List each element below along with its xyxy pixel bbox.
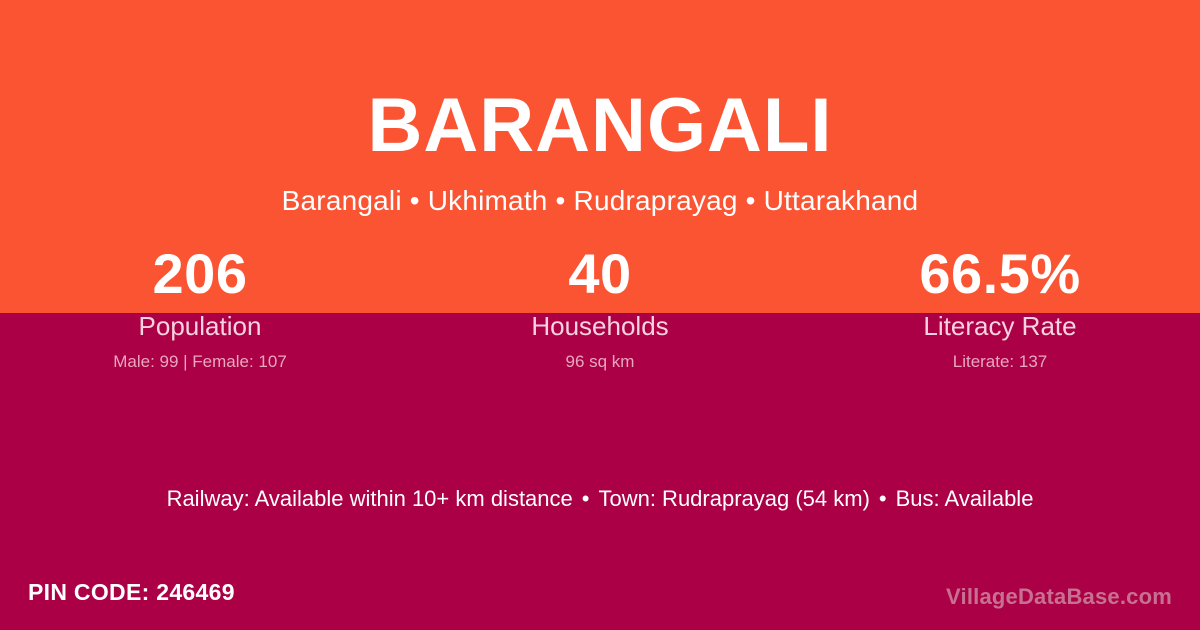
pin-code: PIN CODE: 246469: [28, 576, 235, 608]
stat-population: 206 Population Male: 99 | Female: 107: [0, 243, 400, 374]
page-title: BARANGALI: [0, 88, 1200, 164]
stat-households: 40 Households 96 sq km: [400, 243, 800, 374]
stat-population-label: Population: [0, 305, 400, 343]
stat-population-sub: Male: 99 | Female: 107: [0, 343, 400, 374]
stat-population-value: 206: [0, 243, 400, 305]
stat-literacy-rate-sub: Literate: 137: [800, 343, 1200, 374]
infrastructure-separator-2: •: [870, 486, 896, 511]
stat-households-label: Households: [400, 305, 800, 343]
infrastructure-summary: Railway: Available within 10+ km distanc…: [0, 483, 1200, 515]
stat-literacy-rate: 66.5% Literacy Rate Literate: 137: [800, 243, 1200, 374]
village-info-card: BARANGALI Barangali • Ukhimath • Rudrapr…: [0, 0, 1200, 630]
stat-literacy-rate-value: 66.5%: [800, 243, 1200, 305]
card-footer: PIN CODE: 246469 VillageDataBase.com: [0, 572, 1200, 630]
stat-households-value: 40: [400, 243, 800, 305]
infrastructure-separator-1: •: [573, 486, 599, 511]
stat-households-sub: 96 sq km: [400, 343, 800, 374]
site-watermark: VillageDataBase.com: [946, 582, 1172, 612]
infrastructure-railway: Railway: Available within 10+ km distanc…: [167, 486, 573, 511]
stat-literacy-rate-label: Literacy Rate: [800, 305, 1200, 343]
infrastructure-town: Town: Rudraprayag (54 km): [598, 486, 869, 511]
breadcrumb: Barangali • Ukhimath • Rudraprayag • Utt…: [0, 183, 1200, 218]
infrastructure-bus: Bus: Available: [896, 486, 1034, 511]
statistics-row: 206 Population Male: 99 | Female: 107 40…: [0, 243, 1200, 374]
